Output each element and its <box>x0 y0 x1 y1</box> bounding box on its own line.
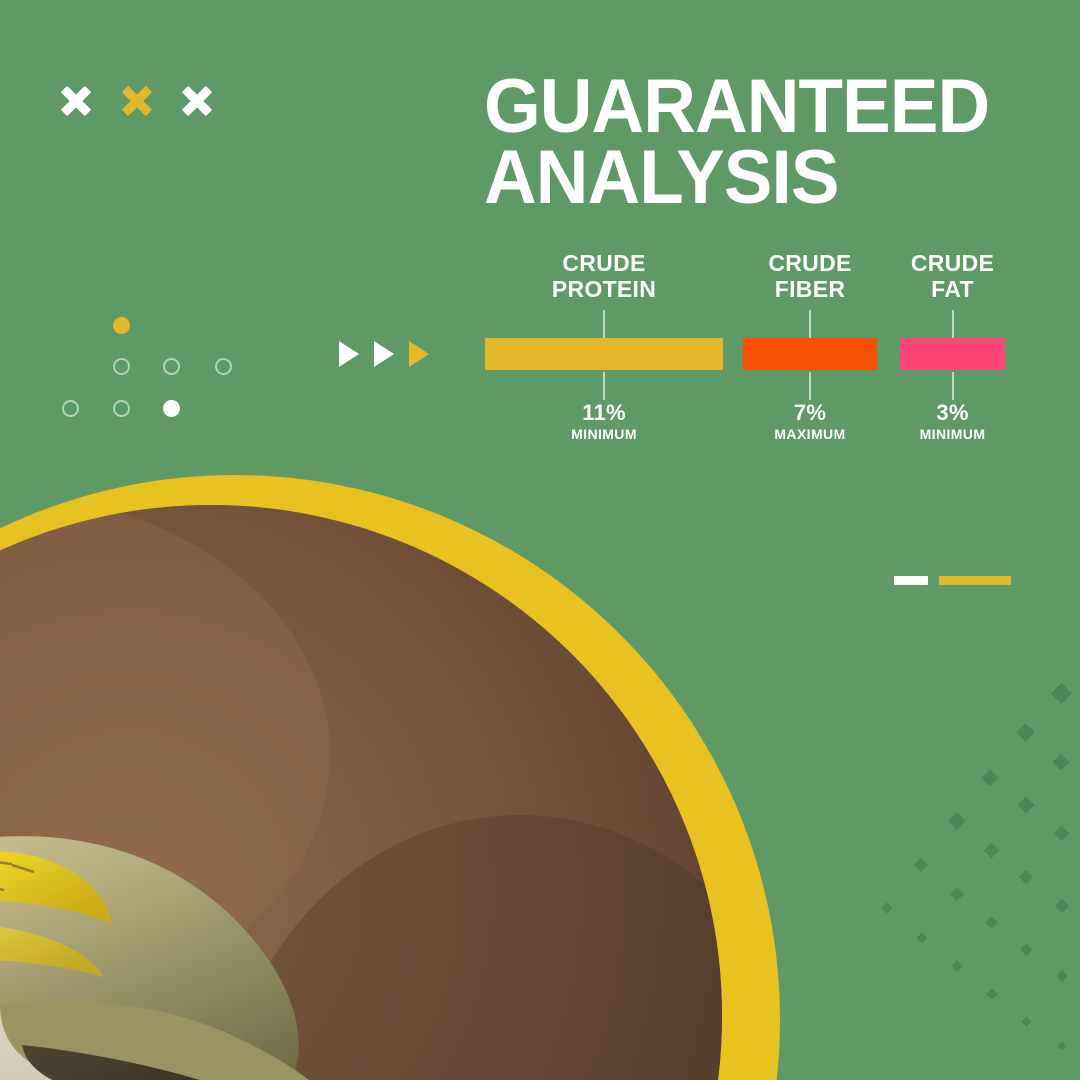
bar-group-crude-fiber: CRUDE FIBER 7% MAXIMUM <box>743 250 877 302</box>
bar-crude-fat <box>900 338 1005 370</box>
tick-line-top-fiber <box>809 310 811 338</box>
bar-value-crude-fat: 3% <box>900 400 1005 426</box>
dot-hollow-4 <box>62 400 79 417</box>
x-mark-3 <box>180 84 214 118</box>
bar-value-crude-fiber: 7% <box>743 400 877 426</box>
dash-white <box>894 576 928 585</box>
bar-label-crude-protein: CRUDE PROTEIN <box>485 250 723 302</box>
tick-line-bottom-fiber <box>809 372 811 400</box>
bar-qualifier-crude-fat: MINIMUM <box>900 426 1005 442</box>
x-mark-1 <box>59 84 93 118</box>
bar-qualifier-crude-protein: MINIMUM <box>485 426 723 442</box>
bar-group-crude-fat: CRUDE FAT 3% MINIMUM <box>900 250 1005 302</box>
dot-hollow-1 <box>113 358 130 375</box>
bird-photo <box>0 505 722 1080</box>
dash-gold <box>939 576 1011 585</box>
bar-label-crude-fat: CRUDE FAT <box>900 250 1005 302</box>
guaranteed-analysis-chart: CRUDE PROTEIN 11% MINIMUM CRUDE FIBER 7%… <box>470 250 1030 450</box>
bar-label-crude-fiber: CRUDE FIBER <box>743 250 877 302</box>
x-mark-2 <box>120 84 154 118</box>
dot-hollow-3 <box>215 358 232 375</box>
tick-line-top-fat <box>952 310 954 338</box>
dot-hollow-2 <box>163 358 180 375</box>
bar-group-crude-protein: CRUDE PROTEIN 11% MINIMUM <box>485 250 723 302</box>
dot-white-filled <box>163 400 180 417</box>
bar-crude-protein <box>485 338 723 370</box>
triangle-3 <box>409 341 429 367</box>
tick-line-bottom-fat <box>952 372 954 400</box>
dot-gold-filled <box>113 317 130 334</box>
diamond-dot-pattern <box>850 650 1080 1080</box>
dot-hollow-5 <box>113 400 130 417</box>
bar-crude-fiber <box>743 338 877 370</box>
bar-value-crude-protein: 11% <box>485 400 723 426</box>
tick-line-bottom-protein <box>603 372 605 400</box>
poster-canvas: GUARANTEED ANALYSIS CRUDE PROTEIN 11% MI… <box>0 0 1080 1080</box>
triangle-2 <box>374 341 394 367</box>
tick-line-top-protein <box>603 310 605 338</box>
bar-qualifier-crude-fiber: MAXIMUM <box>743 426 877 442</box>
triangle-1 <box>339 341 359 367</box>
page-title: GUARANTEED ANALYSIS <box>484 72 1022 213</box>
